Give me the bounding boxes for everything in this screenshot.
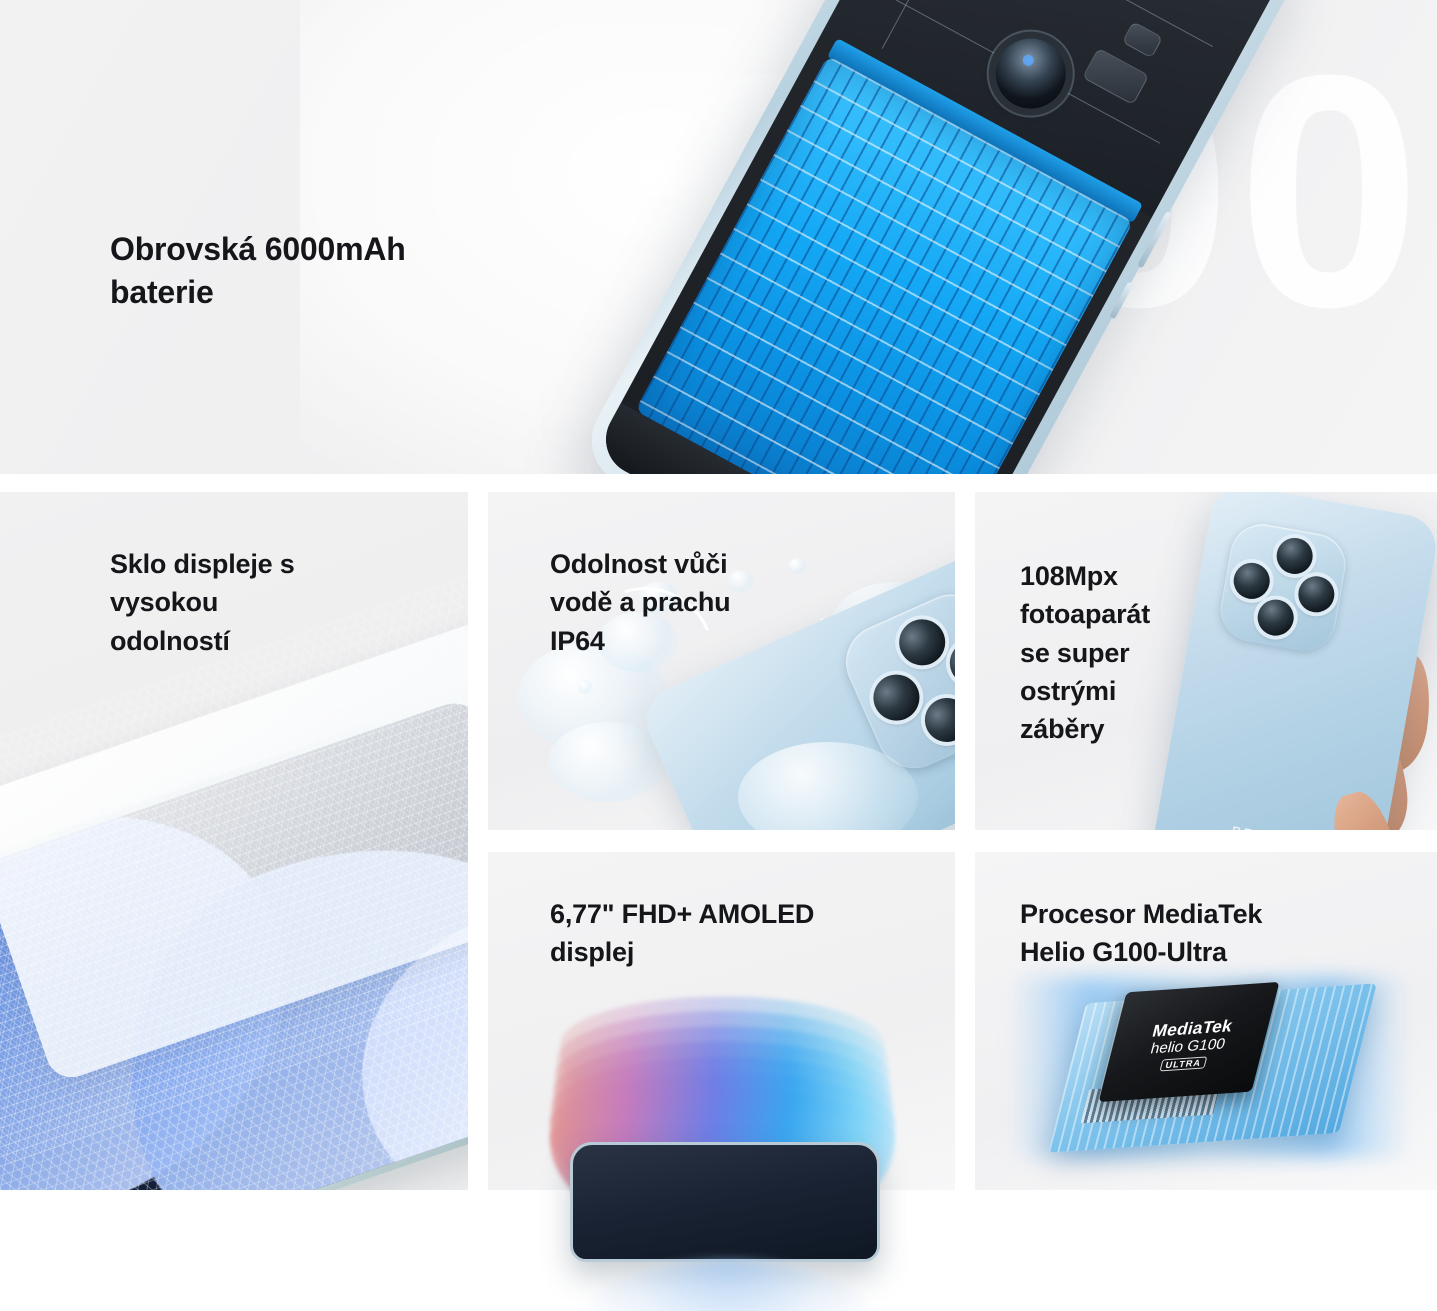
camera-lens-left xyxy=(866,667,927,728)
panel-water[interactable] xyxy=(488,492,955,830)
camera-island xyxy=(1216,519,1351,655)
camera-lens-left xyxy=(1231,560,1273,602)
product-feature-grid: 6000 xyxy=(0,0,1437,1311)
chip-label-badge: ULTRA xyxy=(1159,1056,1208,1071)
camera-scene-image: REDMI xyxy=(1140,492,1437,830)
panel-battery[interactable]: 6000 xyxy=(0,0,1437,474)
redmi-brand-logo: REDMI xyxy=(1231,823,1286,830)
panel-amoled[interactable] xyxy=(488,852,955,1190)
camera-lens-right xyxy=(1295,573,1337,615)
rear-lens-2 xyxy=(983,26,1078,121)
panel-camera[interactable]: REDMI xyxy=(975,492,1437,830)
processor-scene-image: MediaTek helio G100 ULTRA xyxy=(1030,957,1390,1187)
amoled-display-image xyxy=(550,992,895,1222)
camera-lens-bottom xyxy=(918,691,955,749)
glass-scene-image xyxy=(0,742,468,1190)
panel-processor[interactable]: MediaTek helio G100 ULTRA xyxy=(975,852,1437,1190)
phone-rear-held: REDMI xyxy=(1147,492,1437,830)
panel-glass[interactable] xyxy=(0,492,468,1190)
camera-lens-top xyxy=(1274,535,1316,577)
phone-reflection xyxy=(578,1260,878,1311)
camera-lens-bottom xyxy=(1255,597,1297,639)
phone-front-amoled xyxy=(570,1142,880,1262)
mediatek-chip: MediaTek helio G100 ULTRA xyxy=(1098,982,1279,1102)
camera-lens-top xyxy=(892,612,953,673)
